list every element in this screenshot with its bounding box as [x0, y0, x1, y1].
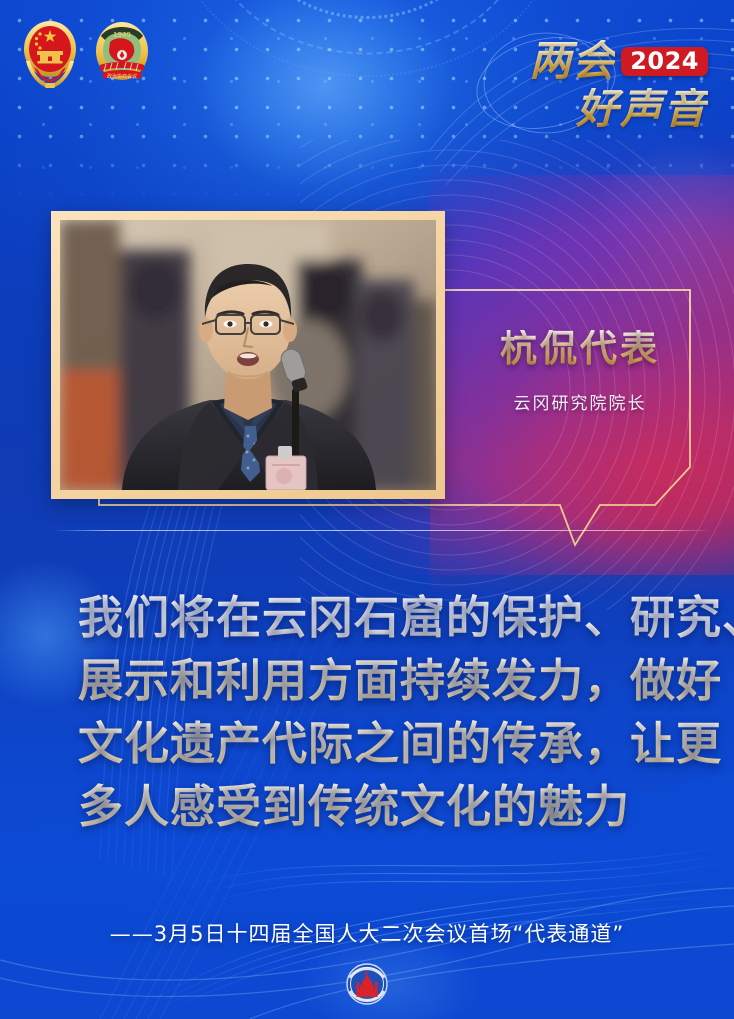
quote-line-1: 我们将在云冈石窟的保护、研究、 [0, 586, 734, 649]
logo-year-badge: 2024 [621, 47, 708, 76]
speaker-portrait-image [60, 220, 436, 490]
header-emblems: 1949 政治协商会议 [20, 18, 152, 92]
logo-text-block: 两会 2024 好声音 [529, 40, 708, 130]
svg-text:政治协商会议: 政治协商会议 [107, 73, 137, 80]
speaker-photo-card [51, 211, 445, 499]
logo-haoshengyin-text: 好声音 [529, 88, 708, 130]
cppcc-emblem: 1949 政治协商会议 [92, 18, 152, 92]
national-emblem-prc [20, 18, 80, 92]
quote-block: 我们将在云冈石窟的保护、研究、 展示和利用方面持续发力，做好 文化遗产代际之间的… [0, 586, 734, 838]
speaker-photo [60, 220, 436, 490]
poster-root: 1949 政治协商会议 [0, 0, 734, 1019]
divider-line [52, 530, 712, 531]
speaker-nameplate: 杭侃代表 云冈研究院院长 [455, 330, 705, 414]
footer-attribution: ——3月5日十四届全国人大二次会议首场“代表通道” [0, 918, 734, 948]
speaker-name: 杭侃代表 [455, 330, 705, 367]
logo-first-row: 两会 2024 [529, 40, 708, 82]
quote-line-2: 展示和利用方面持续发力，做好 [0, 649, 734, 712]
logo-lianghui-text: 两会 [529, 40, 615, 82]
svg-text:1949: 1949 [113, 31, 131, 39]
quote-line-4: 多人感受到传统文化的魅力 [0, 775, 734, 838]
liang-hui-logo: 两会 2024 好声音 [476, 24, 716, 144]
speaker-title: 云冈研究院院长 [455, 389, 705, 414]
pagoda-seal-icon [345, 962, 389, 1006]
quote-line-3: 文化遗产代际之间的传承，让更 [0, 712, 734, 775]
